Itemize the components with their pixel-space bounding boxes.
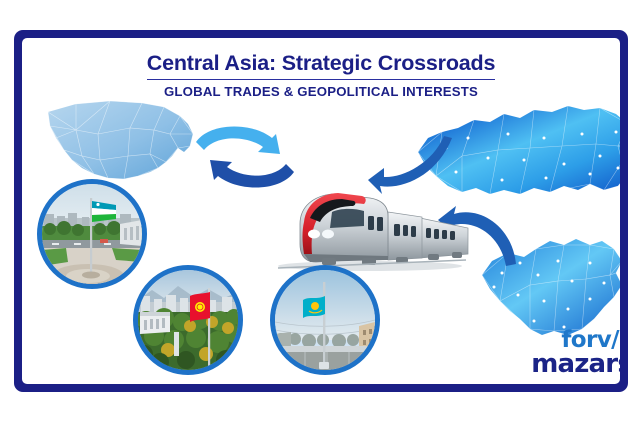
united-states-map: [38, 90, 208, 196]
kazakhstan-flag: [303, 296, 325, 318]
arrow-light-blue: [196, 126, 280, 154]
slide-border-frame: Central Asia: Strategic Crossroads GLOBA…: [14, 30, 628, 392]
high-speed-train: [270, 178, 470, 278]
photo-kyrgyzstan: [133, 265, 243, 375]
photo-uzbekistan: [37, 179, 147, 289]
logo-mazars-text: mazars: [514, 352, 620, 376]
slide-root: Central Asia: Strategic Crossroads GLOBA…: [0, 0, 640, 427]
kazakhstan-scene: [275, 270, 375, 370]
kyrgyzstan-flag: [190, 292, 210, 322]
photo-kazakhstan: [270, 265, 380, 375]
uzbekistan-scene: [42, 184, 142, 284]
slide-content-area: Central Asia: Strategic Crossroads GLOBA…: [22, 38, 620, 384]
forvis-mazars-logo: forv/s mazars: [514, 330, 620, 384]
page-title: Central Asia: Strategic Crossroads: [147, 52, 495, 80]
kyrgyzstan-scene: [138, 270, 238, 370]
